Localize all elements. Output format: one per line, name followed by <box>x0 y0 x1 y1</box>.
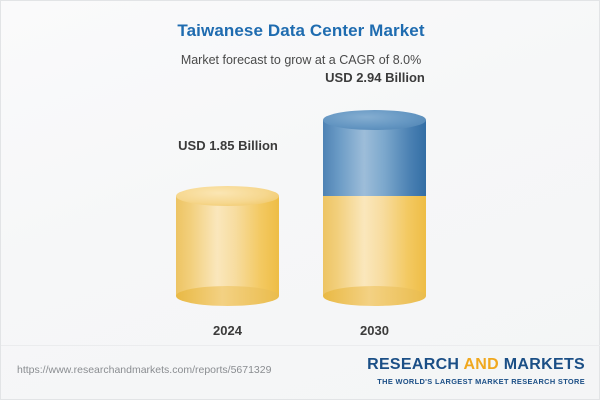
cylinder-body-2024 <box>176 196 279 296</box>
chart-footer: https://www.researchandmarkets.com/repor… <box>1 345 600 399</box>
logo-wordmark: RESEARCH AND MARKETS <box>367 356 585 374</box>
logo-word-and: AND <box>463 356 499 373</box>
logo-word-research: RESEARCH <box>367 356 459 373</box>
cylinder-bottom-cap-2030 <box>323 286 426 306</box>
chart-card: Taiwanese Data Center Market Market fore… <box>0 0 600 400</box>
research-and-markets-logo[interactable]: RESEARCH AND MARKETS THE WORLD'S LARGEST… <box>367 356 585 386</box>
category-label-2030: 2030 <box>323 323 426 338</box>
logo-tagline: THE WORLD'S LARGEST MARKET RESEARCH STOR… <box>367 377 585 386</box>
cylinder-top-cap-2024 <box>176 186 279 206</box>
cylinder-bottom-cap-2024 <box>176 286 279 306</box>
category-label-2024: 2024 <box>176 323 279 338</box>
cylinder-top-cap-2030 <box>323 110 426 130</box>
cylinder-bar-2030-base[interactable] <box>323 186 426 306</box>
value-label-2024: USD 1.85 Billion <box>133 138 323 153</box>
logo-word-markets: MARKETS <box>504 356 585 373</box>
cylinder-bar-2024[interactable] <box>176 186 279 306</box>
source-url-text[interactable]: https://www.researchandmarkets.com/repor… <box>17 364 271 376</box>
cylinder-body-2030-base <box>323 186 426 296</box>
value-label-2030: USD 2.94 Billion <box>280 70 470 85</box>
chart-subtitle: Market forecast to grow at a CAGR of 8.0… <box>1 53 600 67</box>
plot-area: USD 1.85 Billion USD 2.94 Billion 2024 2… <box>1 81 600 346</box>
cylinder-bar-2030-growth[interactable] <box>323 110 426 196</box>
cylinder-body-2030-growth <box>323 120 426 196</box>
chart-title: Taiwanese Data Center Market <box>1 21 600 41</box>
